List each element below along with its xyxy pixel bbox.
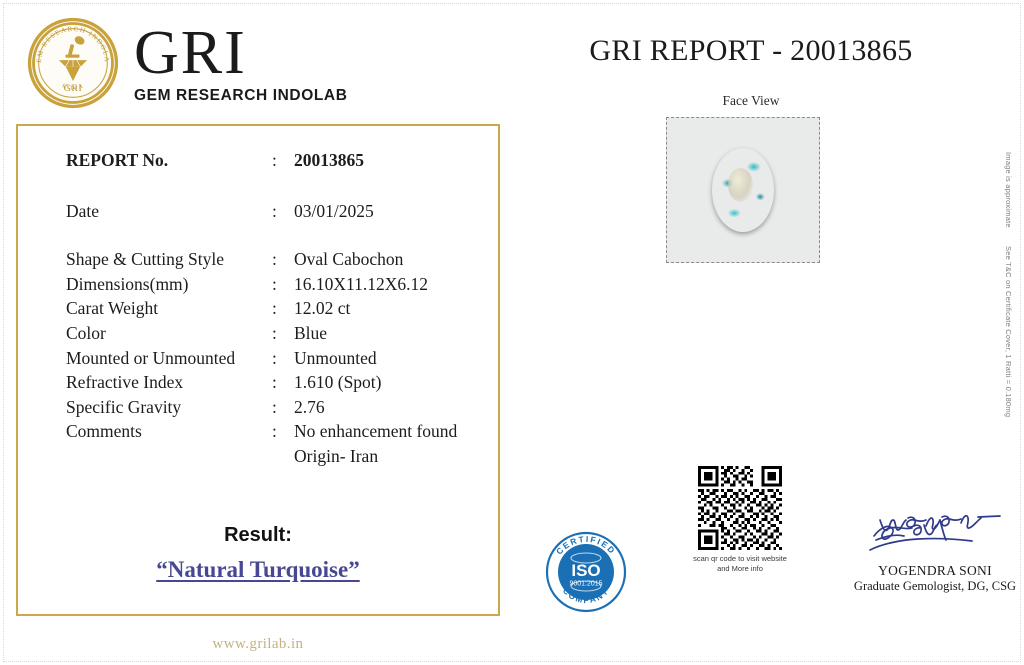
detail-row-color: Color : Blue: [66, 321, 486, 346]
detail-row-carat-weight: Carat Weight : 12.02 ct: [66, 296, 486, 321]
spacer: [66, 223, 486, 247]
report-details-list: REPORT No. : 20013865 Date : 03/01/2025 …: [66, 148, 486, 469]
detail-row-dimensions: Dimensions(mm) : 16.10X11.12X6.12: [66, 272, 486, 297]
detail-label: Dimensions(mm): [66, 272, 272, 297]
detail-label: Shape & Cutting Style: [66, 247, 272, 272]
detail-row-shape: Shape & Cutting Style : Oval Cabochon: [66, 247, 486, 272]
detail-value: Blue: [294, 321, 486, 346]
detail-row-report-no: REPORT No. : 20013865: [66, 148, 486, 173]
gemstone-image: [712, 148, 774, 232]
face-view-label: Face View: [516, 93, 986, 109]
detail-value: 1.610 (Spot): [294, 370, 486, 395]
result-label: Result:: [18, 524, 498, 547]
detail-label: Specific Gravity: [66, 395, 272, 420]
detail-separator: :: [272, 370, 294, 395]
detail-separator: :: [272, 296, 294, 321]
detail-value: 2.76: [294, 395, 486, 420]
svg-text:ISO: ISO: [571, 561, 600, 580]
left-panel: GEM RESEARCH INDOLAB INDIA: [0, 0, 516, 665]
detail-row-mounted: Mounted or Unmounted : Unmounted: [66, 346, 486, 371]
brand-initials: GRI: [134, 22, 348, 84]
right-panel: GRI REPORT - 20013865 Face View CERTIFIE…: [516, 0, 1024, 665]
detail-label: Carat Weight: [66, 296, 272, 321]
detail-label: Date: [66, 199, 272, 224]
detail-label: Refractive Index: [66, 370, 272, 395]
detail-separator: :: [272, 247, 294, 272]
signatory-name: YOGENDRA SONI: [846, 563, 1024, 579]
detail-row-comments: Comments : No enhancement found: [66, 419, 486, 444]
result-block: Result: “Natural Turquoise”: [18, 524, 498, 583]
brand-text: GRI GEM RESEARCH INDOLAB: [134, 22, 348, 104]
qr-code-block[interactable]: scan qr code to visit website and More i…: [688, 466, 792, 573]
detail-row-date: Date : 03/01/2025: [66, 199, 486, 224]
detail-value-origin: Origin- Iran: [294, 444, 378, 469]
svg-text:9001:2015: 9001:2015: [569, 581, 602, 588]
brand-tagline: GEM RESEARCH INDOLAB: [134, 88, 348, 104]
detail-separator: :: [272, 346, 294, 371]
detail-value: 16.10X11.12X6.12: [294, 272, 486, 297]
result-value: “Natural Turquoise”: [18, 557, 498, 583]
detail-separator: :: [272, 199, 294, 224]
brand-header: GEM RESEARCH INDOLAB INDIA: [26, 16, 348, 110]
detail-separator: :: [272, 272, 294, 297]
detail-value: Oval Cabochon: [294, 247, 486, 272]
handwritten-signature: [860, 506, 1010, 562]
side-note-image-approximate: Image is approximate: [1004, 152, 1013, 228]
detail-row-refractive-index: Refractive Index : 1.610 (Spot): [66, 370, 486, 395]
detail-label: REPORT No.: [66, 148, 272, 173]
iso-certification-seal: CERTIFIED COMPANY ISO 9001:2015: [536, 522, 636, 622]
detail-separator: :: [272, 148, 294, 173]
detail-label: Mounted or Unmounted: [66, 346, 272, 371]
footer-website[interactable]: www.grilab.in: [0, 636, 516, 653]
detail-separator: :: [272, 395, 294, 420]
page-title: GRI REPORT - 20013865: [516, 34, 986, 68]
spacer: [66, 173, 486, 199]
qr-caption: scan qr code to visit website and More i…: [688, 554, 792, 573]
signature-block: YOGENDRA SONI Graduate Gemologist, DG, C…: [846, 506, 1024, 594]
detail-separator: :: [272, 321, 294, 346]
spacer: [66, 444, 294, 469]
detail-separator: :: [272, 419, 294, 444]
detail-value: 12.02 ct: [294, 296, 486, 321]
gem-photo: [666, 117, 820, 263]
qr-caption-line1: scan qr code to visit website: [688, 554, 792, 564]
detail-value: 20013865: [294, 148, 486, 173]
detail-value: 03/01/2025: [294, 199, 486, 224]
side-note-terms: See T&C on Certificate Cover, 1 Ratti = …: [1004, 246, 1013, 417]
qr-code-image[interactable]: [698, 466, 782, 550]
qr-caption-line2: and More info: [688, 564, 792, 574]
detail-value: No enhancement found: [294, 419, 486, 444]
signatory-title: Graduate Gemologist, DG, CSG: [846, 579, 1024, 594]
detail-label: Color: [66, 321, 272, 346]
report-details-box: REPORT No. : 20013865 Date : 03/01/2025 …: [16, 124, 500, 616]
svg-text:GRI: GRI: [64, 83, 83, 94]
detail-value: Unmounted: [294, 346, 486, 371]
detail-row-comments-continued: Origin- Iran: [66, 444, 486, 469]
detail-row-specific-gravity: Specific Gravity : 2.76: [66, 395, 486, 420]
gri-seal-logo: GEM RESEARCH INDOLAB INDIA: [26, 16, 120, 110]
detail-label: Comments: [66, 419, 272, 444]
